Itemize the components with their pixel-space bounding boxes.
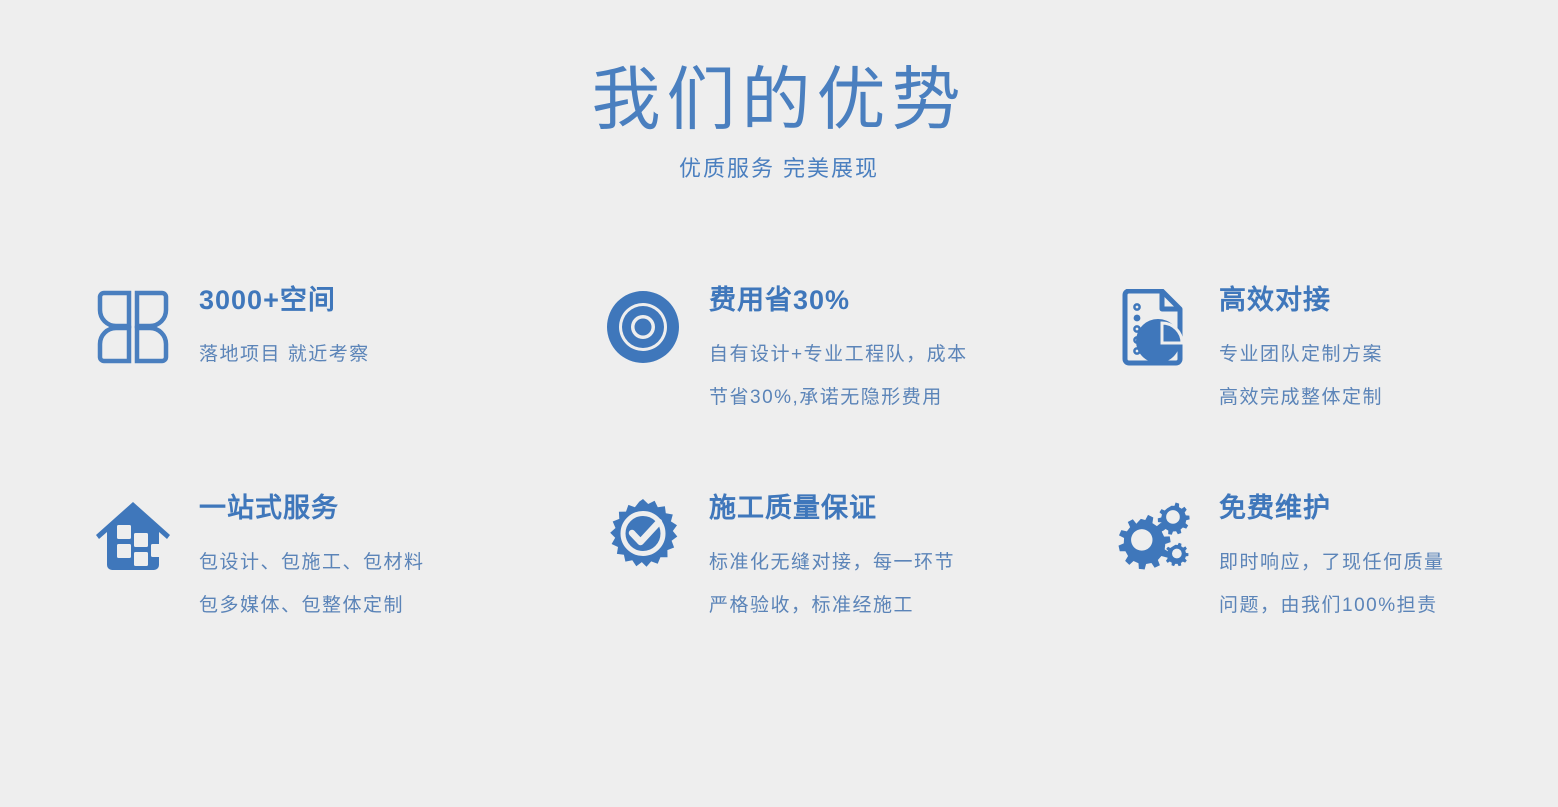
feature-title: 一站式服务 <box>199 491 605 525</box>
target-icon <box>605 275 681 353</box>
feature-item: 免费维护 即时响应，了现任何质量 问题，由我们100%担责 <box>1115 483 1490 627</box>
feature-desc-line: 即时响应，了现任何质量 <box>1219 541 1490 584</box>
feature-text: 费用省30% 自有设计+专业工程队，成本 节省30%,承诺无隐形费用 <box>709 275 1115 419</box>
feature-desc-line: 节省30%,承诺无隐形费用 <box>709 376 1115 419</box>
document-pie-chart-icon <box>1115 275 1191 353</box>
feature-desc-line: 严格验收，标准经施工 <box>709 584 1115 627</box>
house-icon <box>95 483 171 561</box>
section-header: 我们的优势 优质服务 完美展现 <box>0 58 1558 184</box>
feature-grid: 3000+空间 落地项目 就近考察 费用省3 <box>95 275 1490 627</box>
four-petals-icon <box>95 275 171 353</box>
advantages-section: 我们的优势 优质服务 完美展现 3000+空间 落地项目 就近考察 <box>0 0 1558 807</box>
feature-title: 免费维护 <box>1219 491 1490 525</box>
feature-desc-line: 高效完成整体定制 <box>1219 376 1490 419</box>
feature-desc-line: 包设计、包施工、包材料 <box>199 541 605 584</box>
feature-item: 3000+空间 落地项目 就近考察 <box>95 275 605 483</box>
feature-desc-line: 专业团队定制方案 <box>1219 333 1490 376</box>
feature-item: 费用省30% 自有设计+专业工程队，成本 节省30%,承诺无隐形费用 <box>605 275 1115 483</box>
feature-title: 施工质量保证 <box>709 491 1115 525</box>
feature-text: 施工质量保证 标准化无缝对接，每一环节 严格验收，标准经施工 <box>709 483 1115 627</box>
feature-text: 一站式服务 包设计、包施工、包材料 包多媒体、包整体定制 <box>199 483 605 627</box>
feature-text: 高效对接 专业团队定制方案 高效完成整体定制 <box>1219 275 1490 419</box>
feature-item: 高效对接 专业团队定制方案 高效完成整体定制 <box>1115 275 1490 483</box>
feature-text: 3000+空间 落地项目 就近考察 <box>199 275 605 376</box>
page-subtitle: 优质服务 完美展现 <box>0 154 1558 184</box>
page-title: 我们的优势 <box>0 58 1558 142</box>
feature-text: 免费维护 即时响应，了现任何质量 问题，由我们100%担责 <box>1219 483 1490 627</box>
feature-desc-line: 问题，由我们100%担责 <box>1219 584 1490 627</box>
quality-badge-check-icon <box>605 483 681 561</box>
feature-desc-line: 落地项目 就近考察 <box>199 333 605 376</box>
feature-item: 施工质量保证 标准化无缝对接，每一环节 严格验收，标准经施工 <box>605 483 1115 627</box>
feature-desc-line: 标准化无缝对接，每一环节 <box>709 541 1115 584</box>
gears-icon <box>1115 483 1191 561</box>
feature-title: 费用省30% <box>709 283 1115 317</box>
feature-desc-line: 自有设计+专业工程队，成本 <box>709 333 1115 376</box>
feature-title: 高效对接 <box>1219 283 1490 317</box>
feature-title: 3000+空间 <box>199 283 605 317</box>
feature-desc-line: 包多媒体、包整体定制 <box>199 584 605 627</box>
feature-item: 一站式服务 包设计、包施工、包材料 包多媒体、包整体定制 <box>95 483 605 627</box>
